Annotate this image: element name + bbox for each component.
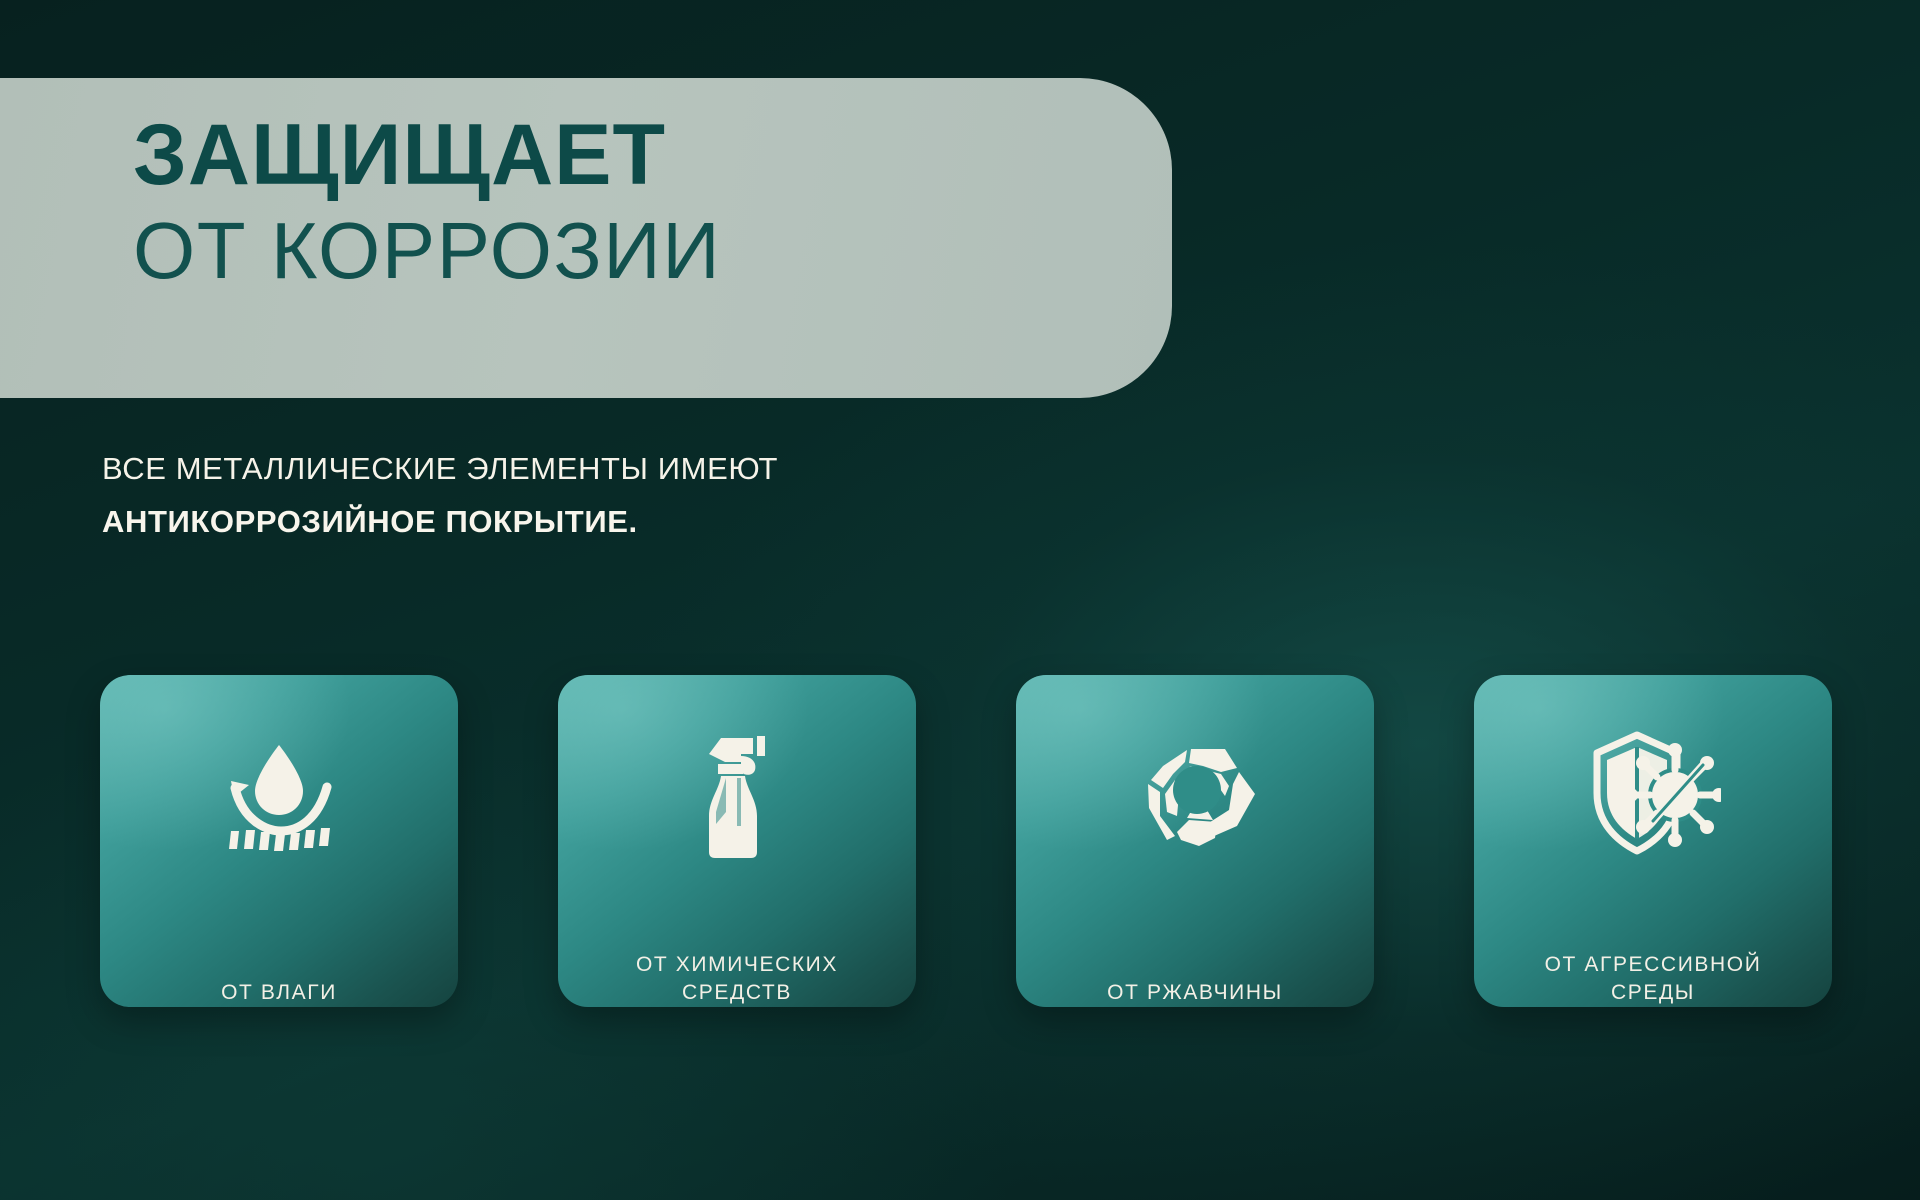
subtitle-line-2: АНТИКОРРОЗИЙНОЕ ПОКРЫТИЕ.: [102, 501, 1302, 544]
feature-card-aggressive-environment-label: ОТ АГРЕССИВНОЙ СРЕДЫ: [1519, 951, 1788, 1007]
shield-virus-protection-icon: [1585, 729, 1721, 859]
feature-card-chemicals[interactable]: ОТ ХИМИЧЕСКИХ СРЕДСТВ: [558, 675, 916, 1007]
feature-card-rust[interactable]: ОТ РЖАВЧИНЫ: [1016, 675, 1374, 1007]
feature-cards-row: ОТ ВЛАГИ: [100, 675, 1832, 1007]
header-banner-text: ЗАЩИЩАЕТ ОТ КОРРОЗИИ: [133, 112, 1053, 295]
feature-card-aggressive-environment-label-wrap: ОТ АГРЕССИВНОЙ СРЕДЫ: [1474, 883, 1832, 1007]
subtitle-line-1: ВСЕ МЕТАЛЛИЧЕСКИЕ ЭЛЕМЕНТЫ ИМЕЮТ: [102, 448, 1302, 491]
subtitle-block: ВСЕ МЕТАЛЛИЧЕСКИЕ ЭЛЕМЕНТЫ ИМЕЮТ АНТИКОР…: [102, 448, 1302, 544]
page-title-line-2: ОТ КОРРОЗИИ: [133, 206, 1053, 296]
feature-card-chemicals-label-wrap: ОТ ХИМИЧЕСКИХ СРЕДСТВ: [558, 883, 916, 1007]
spray-bottle-icon: [685, 729, 789, 859]
feature-card-moisture-label-wrap: ОТ ВЛАГИ: [100, 883, 458, 1007]
feature-card-moisture-label: ОТ ВЛАГИ: [195, 979, 363, 1007]
feature-card-moisture[interactable]: ОТ ВЛАГИ: [100, 675, 458, 1007]
slide-root: ЗАЩИЩАЕТ ОТ КОРРОЗИИ ВСЕ МЕТАЛЛИЧЕСКИЕ Э…: [0, 0, 1920, 1200]
header-banner: ЗАЩИЩАЕТ ОТ КОРРОЗИИ: [0, 78, 1172, 398]
page-title-line-1: ЗАЩИЩАЕТ: [133, 112, 1053, 200]
cracked-hex-nut-icon: [1129, 729, 1261, 859]
feature-card-aggressive-environment[interactable]: ОТ АГРЕССИВНОЙ СРЕДЫ: [1474, 675, 1832, 1007]
feature-card-rust-label-wrap: ОТ РЖАВЧИНЫ: [1016, 883, 1374, 1007]
water-repellent-droplet-icon: [215, 729, 343, 859]
feature-card-chemicals-label: ОТ ХИМИЧЕСКИХ СРЕДСТВ: [610, 951, 864, 1007]
feature-card-rust-label: ОТ РЖАВЧИНЫ: [1081, 979, 1309, 1007]
